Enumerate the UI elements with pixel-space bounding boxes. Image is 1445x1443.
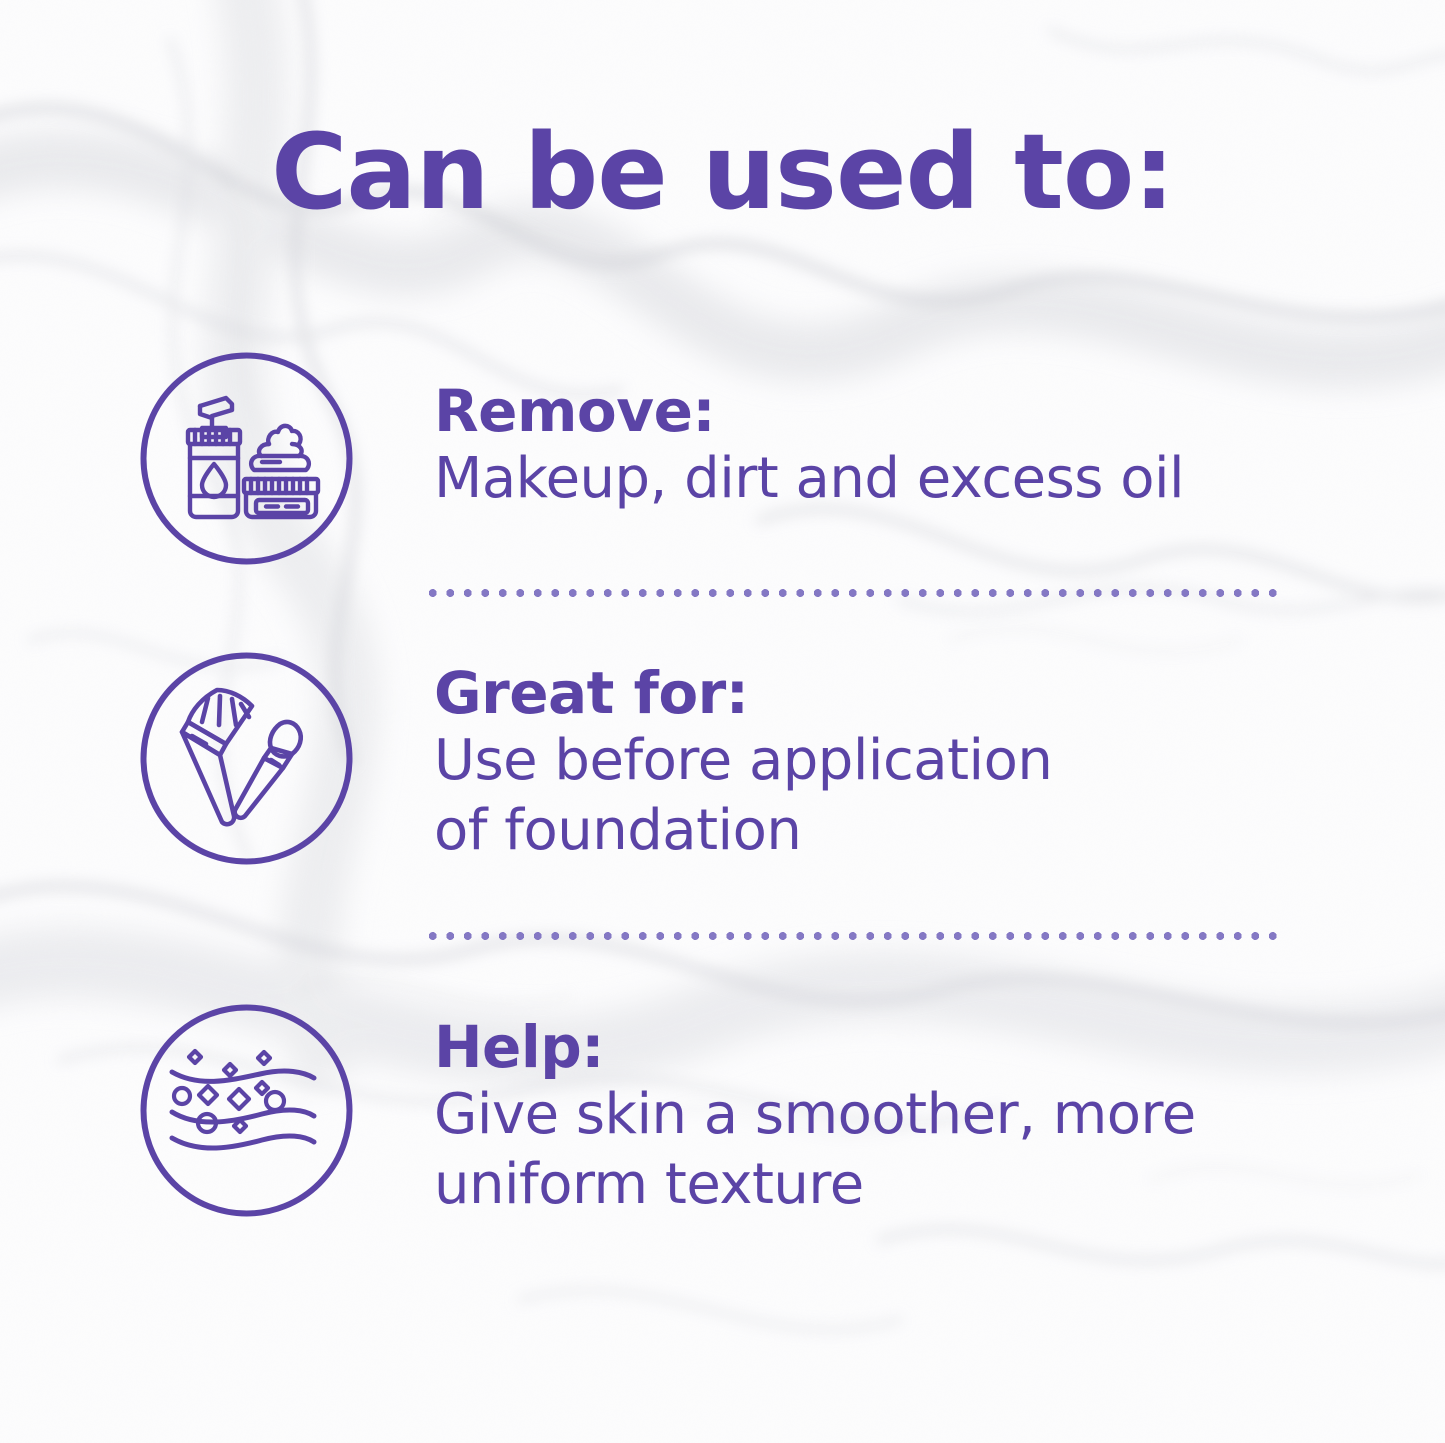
dotted-divider — [424, 932, 1286, 940]
benefit-body-great-for: Use before application of foundation — [434, 726, 1052, 866]
makeup-brushes-icon — [140, 652, 353, 865]
benefit-body-help: Give skin a smoother, more uniform textu… — [434, 1080, 1196, 1220]
benefit-text-great-for: Great for: Use before application of fou… — [434, 652, 1052, 866]
benefit-row-help: Help: Give skin a smoother, more uniform… — [0, 1004, 1445, 1220]
page-title: Can be used to: — [0, 112, 1445, 232]
benefit-text-remove: Remove: Makeup, dirt and excess oil — [434, 352, 1184, 514]
benefit-label-help: Help: — [434, 1014, 1196, 1080]
smooth-skin-texture-icon — [140, 1004, 353, 1217]
benefit-row-remove: Remove: Makeup, dirt and excess oil — [0, 352, 1445, 565]
dotted-divider-line — [424, 932, 1286, 940]
benefit-row-great-for: Great for: Use before application of fou… — [0, 652, 1445, 866]
dotted-divider-line — [424, 589, 1286, 597]
benefit-label-great-for: Great for: — [434, 660, 1052, 726]
benefit-text-help: Help: Give skin a smoother, more uniform… — [434, 1004, 1196, 1220]
dotted-divider — [424, 589, 1286, 597]
benefit-body-remove: Makeup, dirt and excess oil — [434, 444, 1184, 514]
benefit-label-remove: Remove: — [434, 378, 1184, 444]
cleanser-bottle-and-cream-jar-icon — [140, 352, 353, 565]
